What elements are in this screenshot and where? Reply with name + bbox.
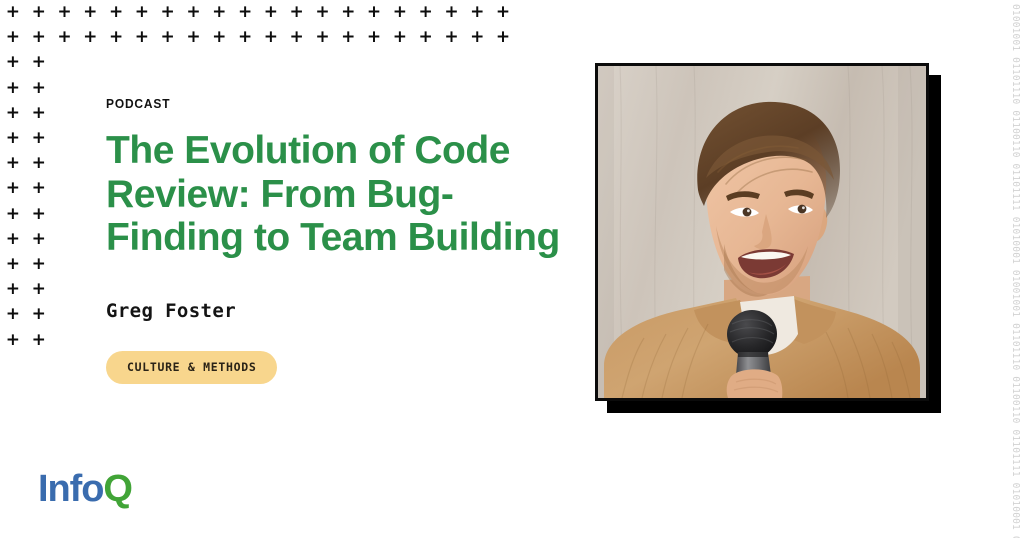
plus-icon: + — [387, 4, 413, 21]
plus-icon: + — [0, 231, 26, 248]
speaker-photo — [598, 66, 926, 398]
plus-icon: + — [387, 29, 413, 46]
plus-pattern-row: ++++++++++++++++++++ — [0, 25, 560, 50]
plus-icon: + — [0, 155, 26, 172]
plus-icon: + — [232, 4, 258, 21]
plus-pattern-row: ++ — [0, 50, 560, 75]
page-title: The Evolution of Code Review: From Bug-F… — [106, 129, 576, 260]
plus-icon: + — [155, 29, 181, 46]
plus-icon: + — [129, 29, 155, 46]
plus-icon: + — [26, 105, 52, 122]
plus-icon: + — [26, 256, 52, 273]
plus-icon: + — [258, 29, 284, 46]
plus-icon: + — [26, 281, 52, 298]
plus-icon: + — [26, 306, 52, 323]
plus-icon: + — [26, 332, 52, 349]
plus-icon: + — [181, 4, 207, 21]
plus-icon: + — [26, 54, 52, 71]
plus-icon: + — [439, 29, 465, 46]
plus-icon: + — [103, 4, 129, 21]
plus-icon: + — [0, 80, 26, 97]
topic-badge[interactable]: CULTURE & METHODS — [106, 351, 277, 384]
portrait-container — [595, 63, 929, 401]
plus-icon: + — [361, 4, 387, 21]
plus-icon: + — [0, 105, 26, 122]
plus-icon: + — [0, 281, 26, 298]
plus-icon: + — [0, 54, 26, 71]
card-content: PODCAST The Evolution of Code Review: Fr… — [106, 96, 576, 384]
plus-icon: + — [26, 231, 52, 248]
plus-icon: + — [310, 4, 336, 21]
plus-icon: + — [206, 29, 232, 46]
plus-icon: + — [284, 29, 310, 46]
author-name: Greg Foster — [106, 300, 576, 322]
plus-icon: + — [26, 80, 52, 97]
plus-icon: + — [0, 180, 26, 197]
plus-icon: + — [26, 206, 52, 223]
content-type-label: PODCAST — [106, 96, 538, 111]
plus-icon: + — [258, 4, 284, 21]
plus-icon: + — [490, 4, 516, 21]
plus-icon: + — [26, 155, 52, 172]
podcast-promo-card: ++++++++++++++++++++++++++++++++++++++++… — [0, 0, 1024, 538]
infoq-logo[interactable]: InfoQ — [38, 470, 132, 508]
plus-icon: + — [0, 130, 26, 147]
plus-icon: + — [335, 29, 361, 46]
plus-icon: + — [0, 206, 26, 223]
plus-icon: + — [52, 29, 78, 46]
plus-icon: + — [206, 4, 232, 21]
plus-icon: + — [464, 29, 490, 46]
plus-icon: + — [0, 256, 26, 273]
plus-icon: + — [26, 180, 52, 197]
plus-icon: + — [0, 29, 26, 46]
plus-icon: + — [26, 130, 52, 147]
plus-icon: + — [310, 29, 336, 46]
plus-icon: + — [26, 4, 52, 21]
plus-icon: + — [232, 29, 258, 46]
plus-icon: + — [464, 4, 490, 21]
plus-icon: + — [0, 332, 26, 349]
plus-icon: + — [77, 29, 103, 46]
binary-decoration-text: 01001001 01101110 01100110 01101111 0101… — [1011, 4, 1021, 538]
plus-icon: + — [181, 29, 207, 46]
plus-icon: + — [335, 4, 361, 21]
plus-icon: + — [26, 29, 52, 46]
plus-icon: + — [129, 4, 155, 21]
plus-icon: + — [439, 4, 465, 21]
plus-icon: + — [52, 4, 78, 21]
plus-icon: + — [361, 29, 387, 46]
portrait-frame — [595, 63, 929, 401]
plus-icon: + — [155, 4, 181, 21]
plus-icon: + — [0, 4, 26, 21]
plus-icon: + — [284, 4, 310, 21]
binary-decoration-strip: 01001001 01101110 01100110 01101111 0101… — [999, 0, 1023, 538]
plus-pattern-row: ++++++++++++++++++++ — [0, 0, 560, 25]
plus-icon: + — [490, 29, 516, 46]
plus-icon: + — [77, 4, 103, 21]
logo-text-info: Info — [38, 468, 103, 510]
plus-icon: + — [413, 29, 439, 46]
plus-icon: + — [413, 4, 439, 21]
plus-icon: + — [0, 306, 26, 323]
plus-icon: + — [103, 29, 129, 46]
logo-text-q: Q — [103, 468, 132, 510]
